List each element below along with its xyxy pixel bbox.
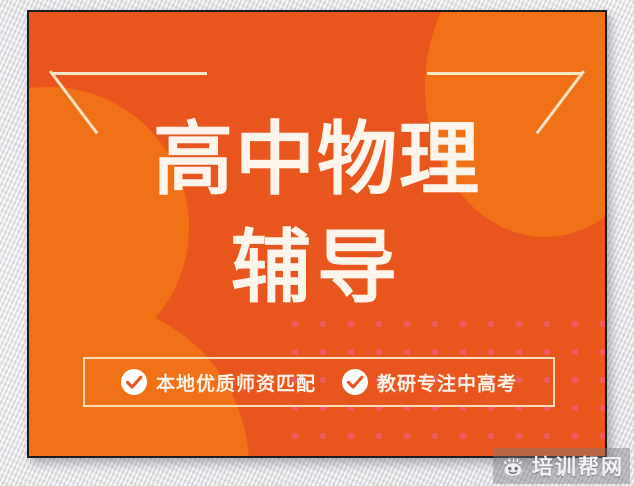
course-poster: 高中物理 辅导 本地优质师资匹配 教研专注中高考 [27, 10, 607, 458]
feature-label-2: 教研专注中高考 [377, 369, 517, 396]
feature-bar: 本地优质师资匹配 教研专注中高考 [83, 357, 555, 407]
feature-label-1: 本地优质师资匹配 [156, 369, 316, 396]
decorative-line-top-left-horizontal [51, 72, 207, 75]
sun-face-icon [501, 454, 525, 478]
canvas-backdrop: 高中物理 辅导 本地优质师资匹配 教研专注中高考 [0, 0, 634, 486]
watermark-text: 培训帮网 [532, 451, 624, 481]
decorative-line-top-right-horizontal [427, 72, 583, 75]
poster-title-line-1: 高中物理 [29, 120, 605, 200]
check-circle-icon [121, 369, 147, 395]
watermark: 培训帮网 [493, 448, 630, 484]
poster-title-line-2: 辅导 [29, 228, 605, 308]
feature-item-2: 教研专注中高考 [342, 369, 517, 396]
check-circle-icon [342, 369, 368, 395]
feature-item-1: 本地优质师资匹配 [121, 369, 316, 396]
